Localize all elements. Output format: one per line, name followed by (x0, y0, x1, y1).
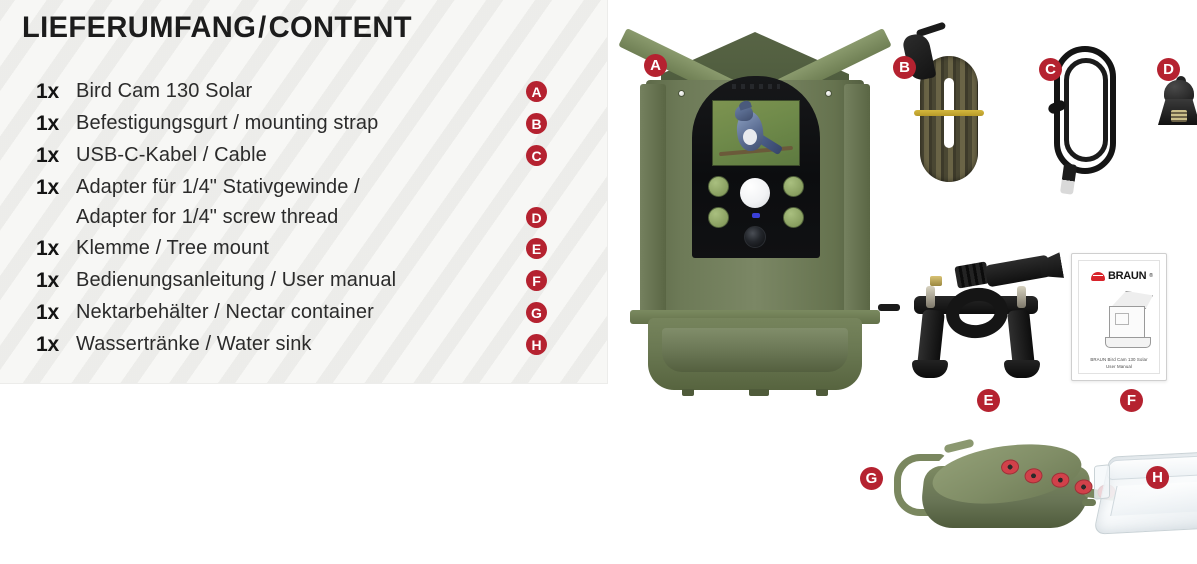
item-badge-f: F (526, 270, 547, 291)
bird-cam-button-up[interactable] (708, 176, 729, 197)
item-badge-e: E (526, 238, 547, 259)
nectar-flower-port (1000, 458, 1020, 475)
item-label: Wassertränke / Water sink (76, 329, 566, 360)
item-quantity: 1x (36, 233, 76, 264)
product-tree-mount (890, 252, 1062, 382)
clamp-thumbscrew-left[interactable] (926, 286, 935, 308)
clamp-ring (943, 284, 1011, 342)
item-quantity: 1x (36, 329, 76, 360)
cable-usb-connector (1060, 163, 1077, 195)
photo-badge-f: F (1120, 389, 1143, 412)
page-title: LIEFERUMFANG/CONTENT (22, 11, 412, 45)
item-quantity: 1x (36, 108, 76, 139)
item-label: Adapter für 1/4" Stativgewinde / Adapter… (76, 172, 566, 232)
list-item: 1x Bedienungsanleitung / User manual F (36, 265, 566, 296)
item-quantity: 1x (36, 172, 76, 203)
list-item: 1x Befestigungsgurt / mounting strap B (36, 108, 566, 139)
adapter-head (1164, 80, 1194, 102)
clamp-tube-ribs (954, 261, 989, 288)
panel-divider-horizontal (0, 383, 608, 384)
list-item: 1x USB-C-Kabel / Cable C (36, 140, 566, 171)
item-quantity: 1x (36, 140, 76, 171)
list-item: 1x Klemme / Tree mount E (36, 233, 566, 264)
cable-inner-loop (1064, 58, 1108, 162)
clamp-side-bolt (878, 304, 900, 311)
bird-cam-display (712, 100, 800, 166)
illustration-tray (1105, 337, 1151, 348)
product-screw-adapter (1156, 80, 1197, 142)
photo-badge-c: C (1039, 58, 1062, 81)
bird-cam-motion-sensor (740, 178, 770, 208)
item-badge-h: H (526, 334, 547, 355)
bird-cam-button-down[interactable] (708, 207, 729, 228)
nectar-flower-port (1024, 467, 1044, 484)
braun-logo-text: BRAUN (1108, 270, 1146, 282)
list-item: 1x Nektarbehälter / Nectar container G (36, 297, 566, 328)
photo-badge-h: H (1146, 466, 1169, 489)
manual-product-illustration (1099, 289, 1157, 349)
item-quantity: 1x (36, 76, 76, 107)
item-label: Bedienungsanleitung / User manual (76, 265, 566, 296)
illustration-screen (1115, 313, 1129, 325)
nectar-spout-left (943, 438, 974, 453)
manual-caption-line-1: BRAUN Bird Cam 130 Solar (1079, 357, 1159, 362)
product-nectar-container (888, 440, 1108, 550)
tray-foot (682, 389, 694, 396)
list-item: 1x Bird Cam 130 Solar A (36, 76, 566, 107)
water-sink-green-chip (1082, 499, 1096, 506)
item-badge-g: G (526, 302, 547, 323)
item-badge-a: A (526, 81, 547, 102)
item-badge-b: B (526, 113, 547, 134)
clamp-thumbscrew-right[interactable] (1017, 286, 1026, 308)
item-badge-c: C (526, 145, 547, 166)
product-user-manual: BRAUN® BRAUN Bird Cam 130 Solar User Man… (1071, 253, 1167, 381)
bird-cam-led-right (825, 90, 832, 97)
list-item: 1x Wassertränke / Water sink H (36, 329, 566, 360)
item-quantity: 1x (36, 297, 76, 328)
clamp-foot-left (912, 360, 948, 378)
item-label: Nektarbehälter / Nectar container (76, 297, 566, 328)
clamp-brass-insert (930, 276, 942, 286)
adapter-thread (1171, 110, 1187, 122)
manual-caption-line-2: User Manual (1079, 364, 1159, 369)
bird-cam-post-right (844, 84, 870, 316)
clamp-foot-right (1004, 360, 1040, 378)
bird-cam-button-menu[interactable] (783, 176, 804, 197)
photo-badge-b: B (893, 56, 916, 79)
photo-badge-e: E (977, 389, 1000, 412)
braun-logo-registered: ® (1149, 273, 1153, 279)
item-label: USB-C-Kabel / Cable (76, 140, 566, 171)
content-list: 1x Bird Cam 130 Solar A 1x Befestigungsg… (36, 76, 566, 361)
product-mounting-strap (900, 32, 996, 192)
bird-cam-status-led (752, 213, 760, 218)
item-badge-d: D (526, 207, 547, 228)
item-quantity: 1x (36, 265, 76, 296)
item-label: Befestigungsgurt / mounting strap (76, 108, 566, 139)
bird-cam-feeder-tray (648, 318, 862, 390)
page-title-en: CONTENT (269, 11, 412, 44)
item-label: Klemme / Tree mount (76, 233, 566, 264)
braun-logo: BRAUN® (1091, 270, 1153, 282)
list-item: 1x Adapter für 1/4" Stativgewinde / Adap… (36, 172, 566, 232)
item-label: Bird Cam 130 Solar (76, 76, 566, 107)
photo-badge-a: A (644, 54, 667, 77)
bird-cam-front-panel (692, 76, 820, 258)
manual-cover: BRAUN® BRAUN Bird Cam 130 Solar User Man… (1078, 260, 1160, 374)
display-bird-belly (743, 129, 757, 145)
product-bird-cam (630, 18, 880, 386)
bird-cam-lens (744, 226, 766, 248)
product-water-sink (1098, 443, 1197, 545)
product-photo-area: A (608, 0, 1197, 564)
bird-cam-button-ok[interactable] (783, 207, 804, 228)
tray-foot (816, 389, 828, 396)
water-sink-clip (1094, 464, 1110, 500)
bird-cam-speaker-grille (732, 84, 780, 89)
content-sheet: LIEFERUMFANG/CONTENT 1x Bird Cam 130 Sol… (0, 0, 1197, 564)
photo-badge-g: G (860, 467, 883, 490)
tray-foot (749, 389, 769, 396)
strap-tie-band (914, 110, 984, 116)
photo-badge-d: D (1157, 58, 1180, 81)
bird-cam-post-left (640, 84, 666, 316)
braun-logo-mark-icon (1091, 272, 1105, 281)
page-title-de: LIEFERUMFANG (22, 11, 256, 44)
bird-cam-led-left (678, 90, 685, 97)
page-title-separator: / (256, 11, 268, 44)
